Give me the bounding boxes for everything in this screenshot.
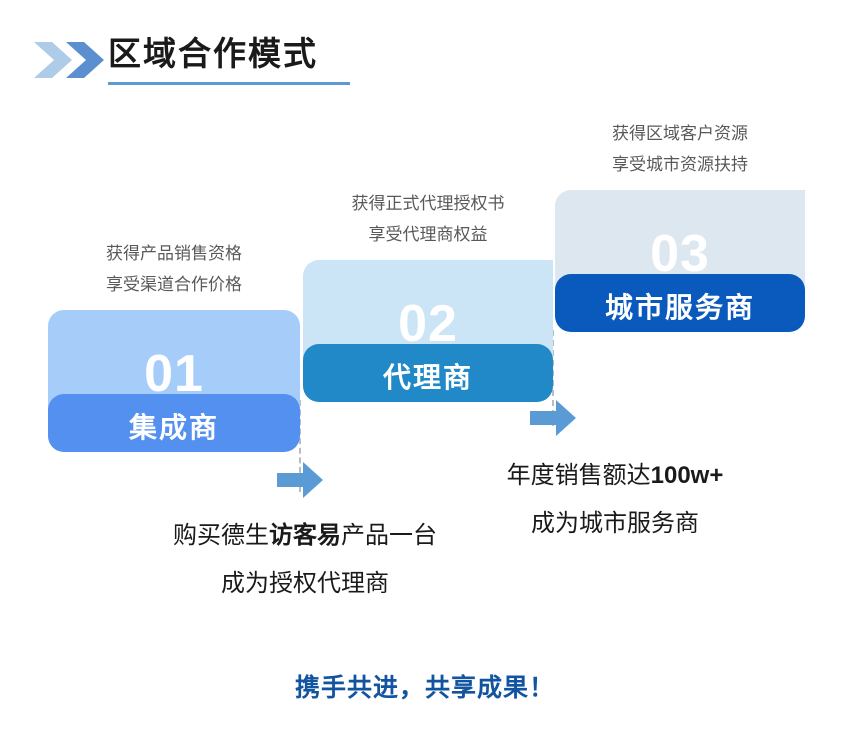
step-03-description: 获得区域客户资源 享受城市资源扶持	[555, 118, 805, 180]
caption-2-line2: 成为城市服务商	[420, 500, 810, 548]
arrow-right-icon	[530, 400, 576, 441]
step-03-role-bar[interactable]: 城市服务商	[555, 274, 805, 332]
step-02-desc-line2: 享受代理商权益	[303, 219, 553, 250]
title-underline	[108, 82, 350, 85]
step-03-role-label: 城市服务商	[605, 286, 755, 326]
slide-canvas: 区域合作模式 获得区域客户资源 享受城市资源扶持 03 城市服务商 获得正式代理…	[0, 0, 850, 737]
step-01-role-bar[interactable]: 集成商	[48, 394, 300, 452]
step-03-card[interactable]: 03 城市服务商	[555, 190, 805, 332]
step-01-card[interactable]: 01 集成商	[48, 310, 300, 452]
double-chevron-icon	[34, 40, 108, 80]
step-02-role-label: 代理商	[383, 356, 473, 396]
caption-2-line1-bold: 100w+	[651, 462, 724, 489]
caption-1-line2: 成为授权代理商	[85, 560, 525, 608]
arrow-right-icon	[277, 462, 323, 503]
step-01-desc-line1: 获得产品销售资格	[48, 238, 300, 269]
step-03-desc-line2: 享受城市资源扶持	[555, 149, 805, 180]
step-03-number: 03	[555, 228, 805, 280]
step-03-desc-line1: 获得区域客户资源	[555, 118, 805, 149]
step-01-number: 01	[48, 348, 300, 400]
header: 区域合作模式	[0, 32, 850, 94]
caption-agent-to-city-partner: 年度销售额达100w+ 成为城市服务商	[420, 452, 810, 548]
caption-2-line1: 年度销售额达100w+	[420, 452, 810, 500]
page-title: 区域合作模式	[108, 32, 318, 76]
footer-slogan: 携手共进，共享成果！	[0, 668, 850, 704]
step-02-role-bar[interactable]: 代理商	[303, 344, 553, 402]
step-02-card[interactable]: 02 代理商	[303, 260, 553, 402]
caption-2-line1-pre: 年度销售额达	[507, 462, 651, 489]
caption-1-line1-pre: 购买德生	[173, 522, 269, 549]
step-01-desc-line2: 享受渠道合作价格	[48, 269, 300, 300]
step-02-description: 获得正式代理授权书 享受代理商权益	[303, 188, 553, 250]
step-02-number: 02	[303, 298, 553, 350]
step-01-description: 获得产品销售资格 享受渠道合作价格	[48, 238, 300, 300]
step-01-role-label: 集成商	[129, 406, 219, 446]
caption-1-line1-bold: 访客易	[269, 522, 341, 549]
step-02-desc-line1: 获得正式代理授权书	[303, 188, 553, 219]
